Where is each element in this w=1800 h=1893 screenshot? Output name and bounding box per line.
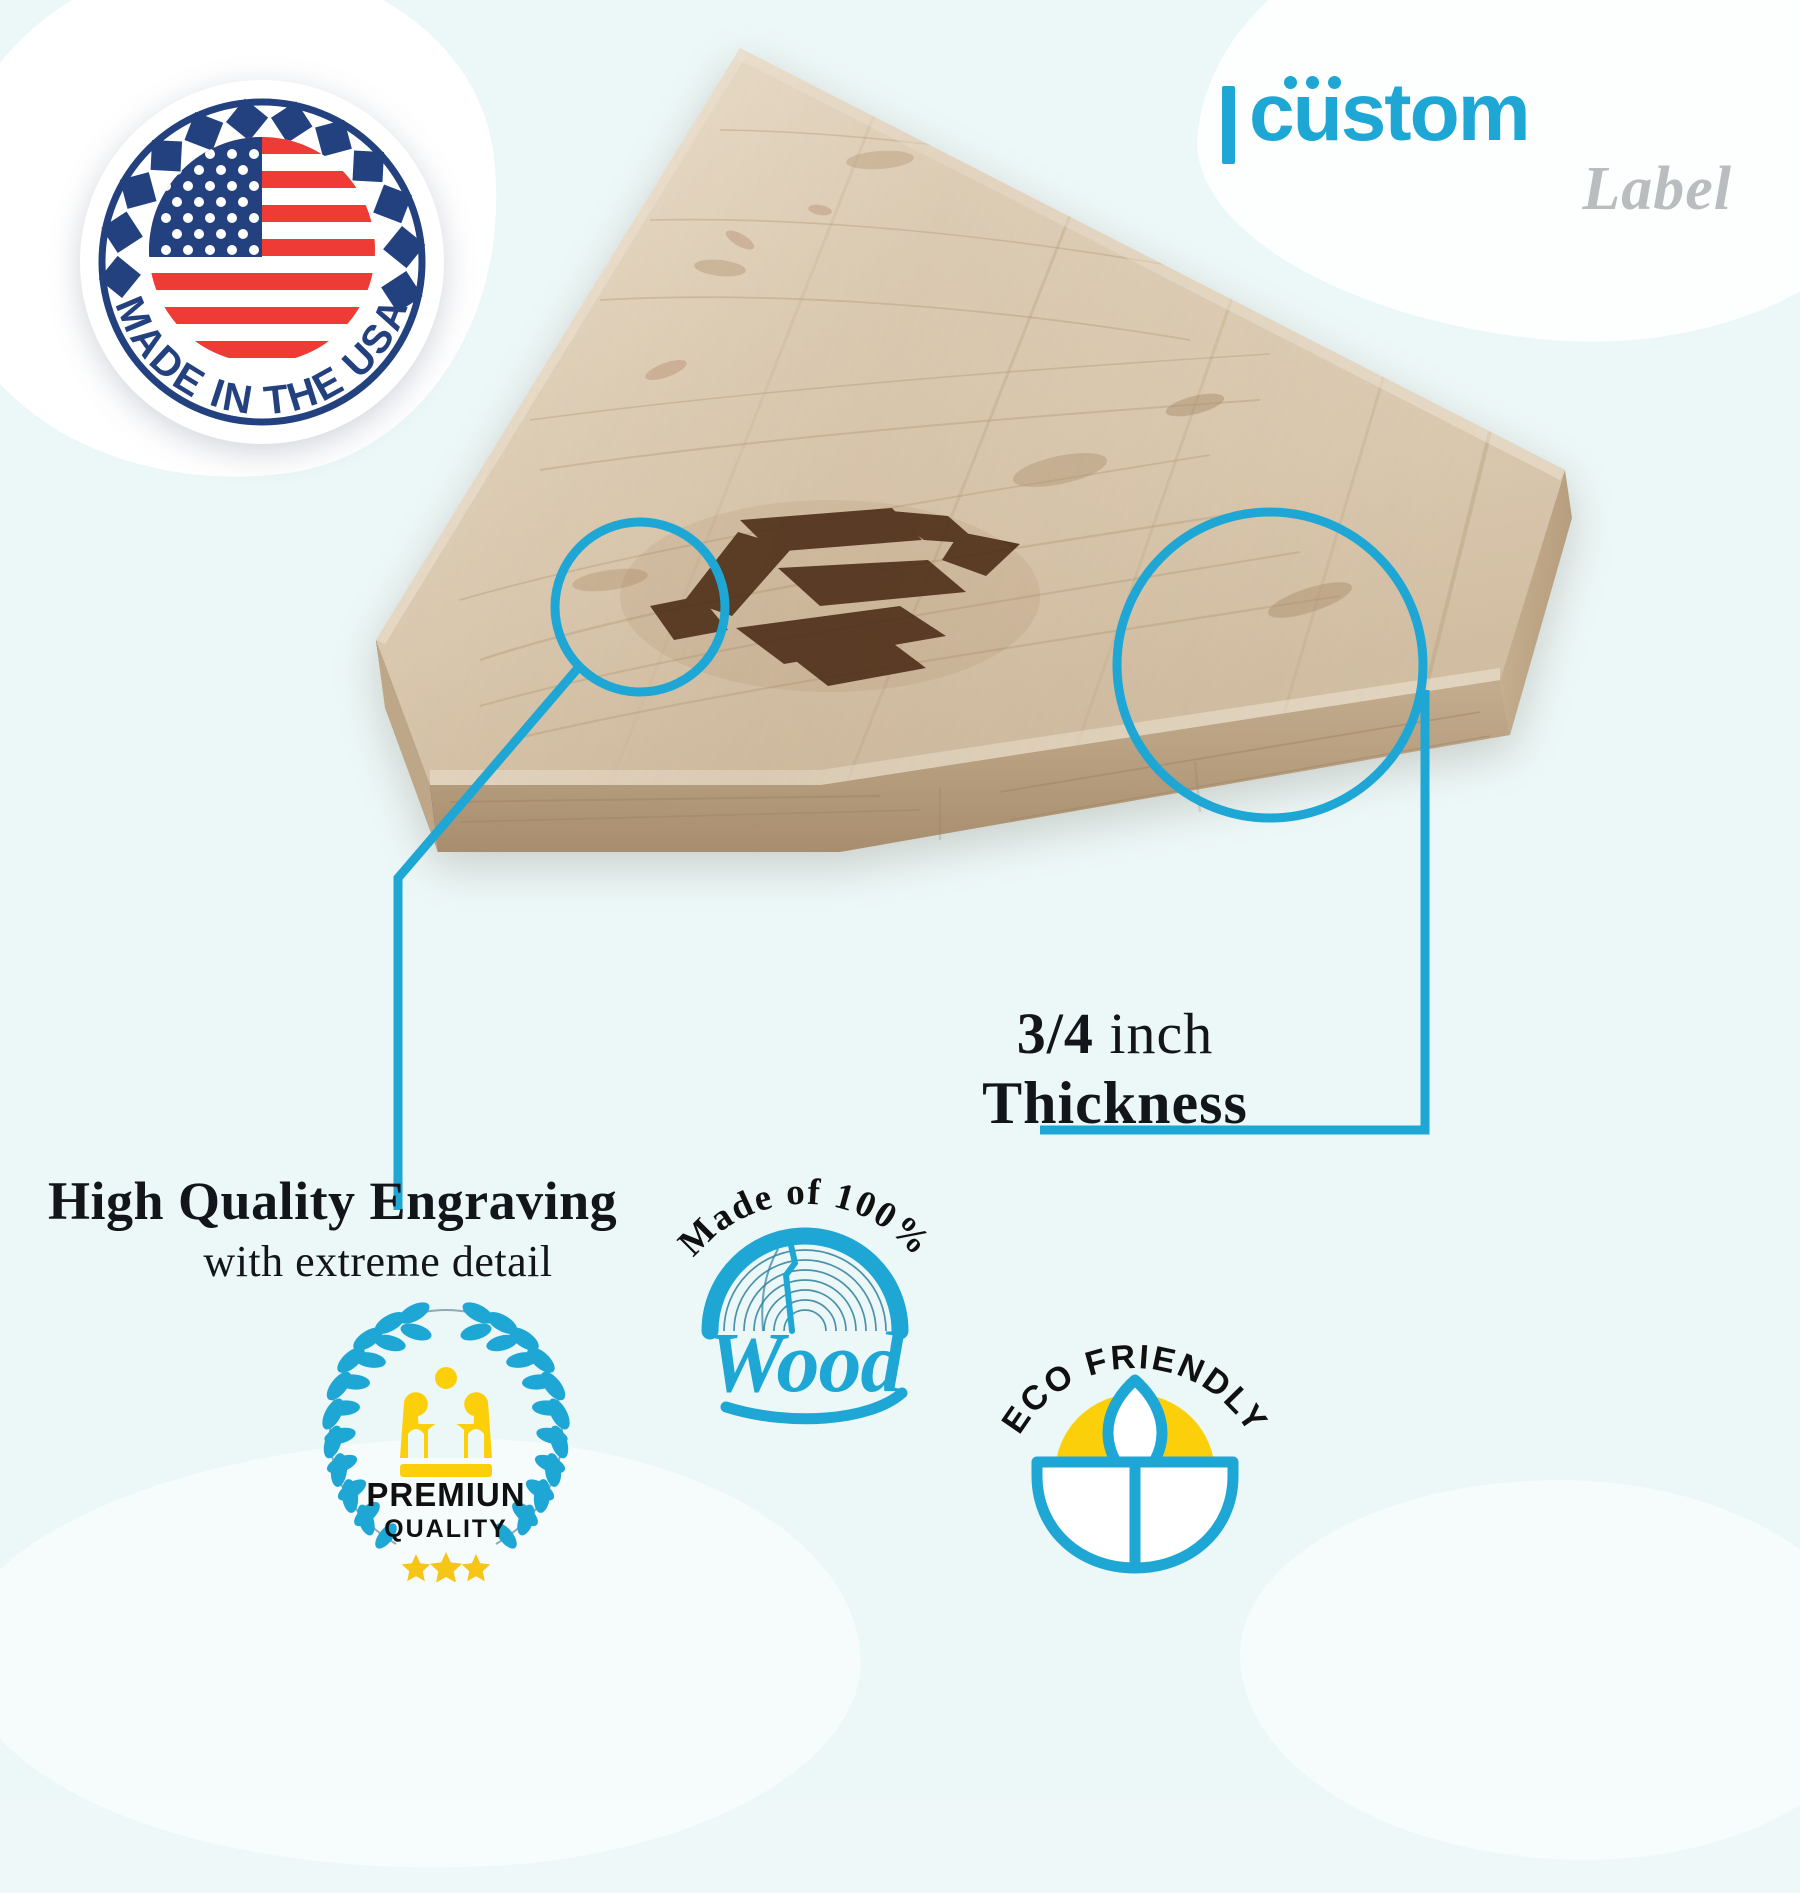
background-brush-stroke-bottom-right	[1240, 1480, 1800, 1860]
usa-flag-circle-icon	[149, 137, 375, 363]
callout-text-engraving: High Quality Engraving with extreme deta…	[48, 1170, 708, 1287]
infographic-canvas: MADE IN THE USA custom Label 3/4 inch Th…	[0, 0, 1800, 1800]
thickness-label: Thickness	[900, 1069, 1330, 1138]
three-dots-icon	[1284, 76, 1341, 89]
badge-made-of-wood: Made of 100% Wood	[640, 1145, 970, 1435]
engraved-logo-mark	[620, 500, 1040, 692]
made-in-usa-badge: MADE IN THE USA	[62, 62, 462, 462]
crown-icon	[400, 1367, 492, 1477]
brand-logo: custom Label	[1222, 62, 1742, 242]
engraving-subtitle: with extreme detail	[48, 1236, 708, 1287]
engraving-title: High Quality Engraving	[48, 1170, 708, 1232]
wood-script-label: Wood	[707, 1314, 905, 1410]
thickness-value: 3/4	[1017, 1001, 1094, 1066]
callout-text-thickness: 3/4 inch Thickness	[900, 1000, 1330, 1138]
leaf-sprout-icon	[1037, 1380, 1233, 1568]
badge-eco-friendly: ECO FRIENDLY	[985, 1278, 1285, 1583]
thickness-unit: inch	[1094, 1001, 1213, 1066]
badge-premium-quality: PREMIUN QUALITY	[296, 1282, 596, 1582]
premium-line-2: QUALITY	[384, 1515, 508, 1543]
star-rating-icon	[402, 1552, 490, 1582]
premium-line-1: PREMIUN	[366, 1476, 525, 1513]
brand-script-label: Label	[1222, 154, 1742, 225]
vertical-bar-icon	[1222, 86, 1235, 164]
